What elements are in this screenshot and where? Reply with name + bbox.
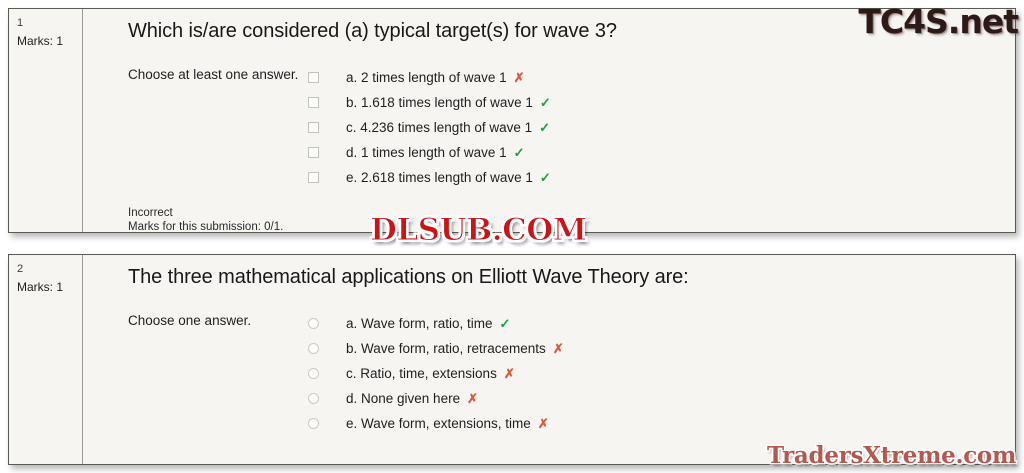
checkbox-icon[interactable] [308,147,319,158]
answer-option[interactable]: b. Wave form, ratio, retracements ✗ [308,336,1015,361]
checkbox-control[interactable] [308,97,346,108]
question-meta-1: 1 Marks: 1 [9,9,83,232]
wrong-icon: ✗ [504,366,515,382]
question-body-2: The three mathematical applications on E… [83,255,1015,464]
checkbox-control[interactable] [308,122,346,133]
radio-control[interactable] [308,393,346,404]
answer-instruction: Choose at least one answer. [128,65,308,190]
checkbox-icon[interactable] [308,72,319,83]
radio-icon[interactable] [308,343,319,354]
answer-option[interactable]: e. Wave form, extensions, time ✗ [308,411,1015,436]
radio-control[interactable] [308,318,346,329]
answer-option[interactable]: c. 4.236 times length of wave 1 ✓ [308,115,1015,140]
checkbox-icon[interactable] [308,97,319,108]
answer-instruction: Choose one answer. [128,311,308,436]
answer-option[interactable]: c. Ratio, time, extensions ✗ [308,361,1015,386]
question-panel-2: 2 Marks: 1 The three mathematical applic… [8,254,1016,465]
radio-icon[interactable] [308,393,319,404]
answer-option-label: d. None given here [346,390,460,408]
answer-option[interactable]: a. Wave form, ratio, time ✓ [308,311,1015,336]
check-icon: ✓ [540,95,551,111]
question-marks: Marks: 1 [17,33,82,49]
check-icon: ✓ [540,170,551,186]
checkbox-icon[interactable] [308,122,319,133]
question-feedback-2 [83,436,1015,452]
answer-option-label: c. 4.236 times length of wave 1 [346,119,532,137]
answer-option-label: d. 1 times length of wave 1 [346,144,507,162]
answer-list-1: a. 2 times length of wave 1 ✗ b. 1.618 t… [308,65,1015,190]
question-title: The three mathematical applications on E… [83,255,1015,289]
question-number: 2 [17,262,82,276]
question-content-1: Choose at least one answer. a. 2 times l… [83,43,1015,190]
answer-option-label: b. Wave form, ratio, retracements [346,340,546,358]
wrong-icon: ✗ [514,70,525,86]
question-feedback-1: Incorrect Marks for this submission: 0/1… [83,190,1015,234]
answer-list-2: a. Wave form, ratio, time ✓ b. Wave form… [308,311,1015,436]
checkbox-control[interactable] [308,147,346,158]
answer-option-label: e. 2.618 times length of wave 1 [346,169,533,187]
check-icon: ✓ [514,145,525,161]
answer-option-label: b. 1.618 times length of wave 1 [346,94,533,112]
radio-icon[interactable] [308,368,319,379]
answer-option-label: a. Wave form, ratio, time [346,315,493,333]
question-meta-2: 2 Marks: 1 [9,255,83,464]
answer-option-label: a. 2 times length of wave 1 [346,69,507,87]
question-content-2: Choose one answer. a. Wave form, ratio, … [83,289,1015,436]
answer-option-label: e. Wave form, extensions, time [346,415,531,433]
checkbox-control[interactable] [308,72,346,83]
answer-option[interactable]: d. None given here ✗ [308,386,1015,411]
radio-icon[interactable] [308,418,319,429]
wrong-icon: ✗ [467,391,478,407]
question-marks: Marks: 1 [17,279,82,295]
check-icon: ✓ [539,120,550,136]
radio-icon[interactable] [308,318,319,329]
answer-option[interactable]: d. 1 times length of wave 1 ✓ [308,140,1015,165]
check-icon: ✓ [500,316,511,332]
feedback-status: Incorrect [128,206,1015,220]
wrong-icon: ✗ [553,341,564,357]
radio-control[interactable] [308,368,346,379]
wrong-icon: ✗ [538,416,549,432]
question-panel-1: 1 Marks: 1 Which is/are considered (a) t… [8,8,1016,233]
answer-option-label: c. Ratio, time, extensions [346,365,497,383]
answer-option[interactable]: a. 2 times length of wave 1 ✗ [308,65,1015,90]
question-number: 1 [17,16,82,30]
quiz-review-page: 1 Marks: 1 Which is/are considered (a) t… [0,0,1024,473]
answer-option[interactable]: e. 2.618 times length of wave 1 ✓ [308,165,1015,190]
question-title: Which is/are considered (a) typical targ… [83,9,1015,43]
checkbox-control[interactable] [308,172,346,183]
question-body-1: Which is/are considered (a) typical targ… [83,9,1015,232]
answer-option[interactable]: b. 1.618 times length of wave 1 ✓ [308,90,1015,115]
radio-control[interactable] [308,343,346,354]
feedback-marks: Marks for this submission: 0/1. [128,220,1015,234]
checkbox-icon[interactable] [308,172,319,183]
radio-control[interactable] [308,418,346,429]
